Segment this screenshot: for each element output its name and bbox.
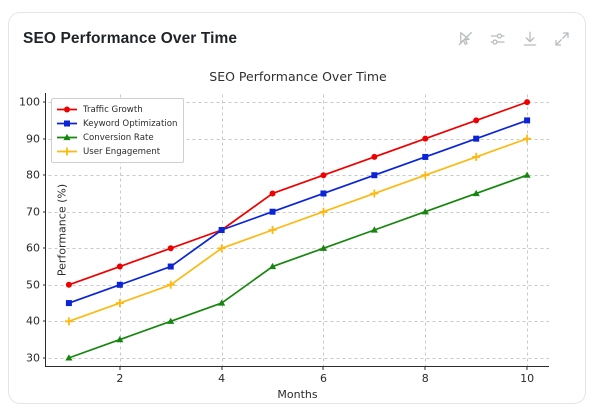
page-title: SEO Performance Over Time: [23, 30, 237, 48]
x-tick-label: 8: [422, 372, 429, 385]
card-header: SEO Performance Over Time: [9, 13, 585, 65]
data-point-marker: [168, 245, 174, 251]
data-point-marker: [320, 172, 326, 178]
chart-title: SEO Performance Over Time: [9, 69, 587, 84]
download-icon[interactable]: [521, 30, 539, 48]
data-point-marker: [524, 117, 530, 123]
data-point-marker: [63, 148, 71, 156]
legend-item[interactable]: Traffic Growth: [56, 103, 177, 116]
legend-swatch-icon: [56, 146, 78, 157]
legend-item[interactable]: Conversion Rate: [56, 131, 177, 144]
data-point-marker: [65, 317, 73, 325]
y-tick-label: 40: [26, 315, 40, 328]
chart-axes: Performance (%) Months 30405060708090100…: [45, 93, 549, 367]
y-tick-label: 50: [26, 278, 40, 291]
data-point-marker: [371, 172, 377, 178]
expand-icon[interactable]: [553, 30, 571, 48]
series-line: [69, 139, 527, 322]
sliders-icon[interactable]: [489, 30, 507, 48]
legend-label: Keyword Optimization: [83, 119, 177, 129]
data-point-marker: [168, 264, 174, 270]
legend-item[interactable]: User Engagement: [56, 145, 177, 158]
data-point-marker: [117, 282, 123, 288]
y-tick-label: 70: [26, 205, 40, 218]
y-tick-label: 90: [26, 132, 40, 145]
data-point-marker: [66, 300, 72, 306]
legend-swatch-icon: [56, 132, 78, 143]
data-point-marker: [270, 209, 276, 215]
data-point-marker: [64, 107, 70, 113]
legend-swatch-icon: [56, 104, 78, 115]
data-point-marker: [472, 153, 480, 161]
legend-swatch-icon: [56, 118, 78, 129]
data-point-marker: [523, 135, 531, 143]
data-point-marker: [524, 99, 530, 105]
data-point-marker: [319, 208, 327, 216]
data-point-marker: [320, 190, 326, 196]
data-point-marker: [422, 154, 428, 160]
data-point-marker: [269, 226, 277, 234]
series-user-engagement: [65, 135, 531, 326]
data-point-marker: [422, 136, 428, 142]
chart-plot: SEO Performance Over Time Performance (%…: [9, 59, 587, 403]
data-point-marker: [117, 264, 123, 270]
legend-item[interactable]: Keyword Optimization: [56, 117, 177, 130]
chart-legend: Traffic GrowthKeyword OptimizationConver…: [51, 98, 184, 163]
x-tick-label: 6: [320, 372, 327, 385]
x-axis-label: Months: [277, 388, 317, 401]
y-tick-label: 80: [26, 169, 40, 182]
data-point-marker: [270, 190, 276, 196]
y-tick-label: 100: [19, 96, 40, 109]
x-tick-label: 10: [520, 372, 534, 385]
data-point-marker: [370, 189, 378, 197]
data-point-marker: [116, 299, 124, 307]
data-point-marker: [473, 136, 479, 142]
data-point-marker: [473, 117, 479, 123]
x-tick-label: 2: [116, 372, 123, 385]
series-conversion-rate: [65, 172, 530, 361]
legend-label: Conversion Rate: [83, 133, 154, 143]
data-point-marker: [371, 154, 377, 160]
data-point-marker: [64, 121, 70, 127]
data-point-marker: [523, 172, 530, 178]
legend-label: User Engagement: [83, 147, 160, 157]
chart-toolbar: [457, 30, 571, 48]
y-tick-label: 60: [26, 242, 40, 255]
data-point-marker: [219, 227, 225, 233]
data-point-marker: [66, 282, 72, 288]
legend-label: Traffic Growth: [83, 105, 143, 115]
pointer-disabled-icon[interactable]: [457, 30, 475, 48]
chart-card: SEO Performance Over Time: [8, 12, 586, 404]
y-tick-label: 30: [26, 351, 40, 364]
x-tick-label: 4: [218, 372, 225, 385]
data-point-marker: [421, 171, 429, 179]
